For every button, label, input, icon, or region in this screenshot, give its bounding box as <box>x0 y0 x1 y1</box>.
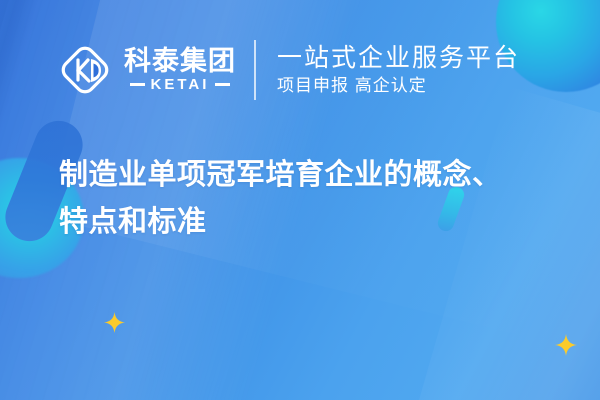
logo-company-name-en: KETAI <box>151 77 210 92</box>
banner-header: 科泰集团 KETAI 一站式企业服务平台 项目申报 高企认定 <box>0 0 600 140</box>
tagline-sub: 项目申报 高企认定 <box>277 77 520 95</box>
company-logo: 科泰集团 KETAI <box>57 42 236 98</box>
logo-company-name-cn: 科泰集团 <box>124 48 236 75</box>
four-point-star-icon <box>555 334 577 356</box>
promo-banner: 科泰集团 KETAI 一站式企业服务平台 项目申报 高企认定 制造业单项冠军培育… <box>0 0 600 400</box>
page-title-line-2: 特点和标准 <box>59 199 551 246</box>
ketai-diamond-kt-monogram-icon <box>57 42 113 98</box>
header-tagline: 一站式企业服务平台 项目申报 高企认定 <box>277 45 520 94</box>
header-divider <box>254 40 256 100</box>
page-title: 制造业单项冠军培育企业的概念、 特点和标准 <box>59 152 551 246</box>
logo-en-row: KETAI <box>124 77 236 92</box>
tagline-main: 一站式企业服务平台 <box>277 45 520 71</box>
logo-wordmark: 科泰集团 KETAI <box>124 48 236 92</box>
logo-rule-left-icon <box>130 83 145 86</box>
logo-rule-right-icon <box>215 83 230 86</box>
four-point-star-icon <box>104 312 125 333</box>
page-title-line-1: 制造业单项冠军培育企业的概念、 <box>59 152 551 199</box>
